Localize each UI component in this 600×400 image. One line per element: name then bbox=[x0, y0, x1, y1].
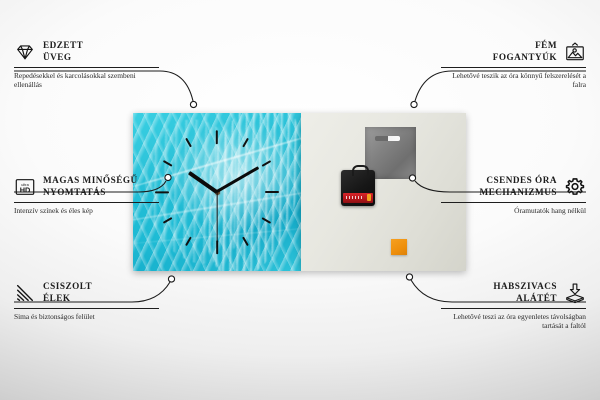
callout-title-line1: HABSZIVACS bbox=[493, 281, 557, 291]
callout-title-line2: ÜVEG bbox=[43, 52, 72, 62]
callout-tempered-glass: EDZETT ÜVEG Repedésekkel és karcolásokka… bbox=[14, 40, 159, 90]
callout-title: HABSZIVACS ALÁTÉT bbox=[493, 281, 557, 305]
callout-title-line1: MAGAS MINŐSÉGŰ bbox=[43, 175, 138, 185]
callout-title-line2: FOGANTYÚK bbox=[493, 52, 557, 62]
callout-title-line2: MECHANIZMUS bbox=[479, 187, 557, 197]
product-photo bbox=[133, 113, 466, 271]
callout-divider bbox=[441, 308, 586, 309]
callout-metal-handles: FÉM FOGANTYÚK Lehetővé teszik az óra kön… bbox=[441, 40, 586, 90]
callout-title-line1: FÉM bbox=[535, 40, 557, 50]
callout-header: HABSZIVACS ALÁTÉT bbox=[441, 281, 586, 305]
clock-tick bbox=[262, 217, 272, 224]
battery-label bbox=[346, 196, 364, 199]
callout-divider bbox=[441, 67, 586, 68]
callout-header: CSENDES ÓRA MECHANIZMUS bbox=[441, 175, 586, 199]
foam-pad-icon bbox=[564, 282, 586, 304]
callout-description: Lehetővé teszi az óra egyenletes távolsá… bbox=[441, 312, 586, 332]
callout-title: EDZETT ÜVEG bbox=[43, 40, 83, 64]
callout-title-line1: CSISZOLT bbox=[43, 281, 92, 291]
clock-tick bbox=[265, 191, 279, 193]
callout-title-line2: ÉLEK bbox=[43, 293, 71, 303]
svg-text:HD: HD bbox=[20, 185, 31, 194]
picture-hanger-icon bbox=[564, 41, 586, 63]
quiet-clock-mechanism bbox=[341, 170, 375, 206]
callout-description: Intenzív színek és éles kép bbox=[14, 206, 159, 216]
callout-description: Repedésekkel és karcolásokkal szembeni e… bbox=[14, 71, 159, 91]
callout-header: ultra HD MAGAS MINŐSÉGŰ NYOMTATÁS bbox=[14, 175, 159, 199]
clock-tick bbox=[242, 237, 249, 247]
callout-divider bbox=[441, 202, 586, 203]
battery bbox=[343, 193, 373, 203]
callout-title-line2: NYOMTATÁS bbox=[43, 187, 106, 197]
polished-edge-icon bbox=[14, 282, 36, 304]
callout-foam-pad: HABSZIVACS ALÁTÉT Lehetővé teszi az óra … bbox=[441, 281, 586, 331]
clock-hour-hand bbox=[188, 171, 218, 194]
callout-title: MAGAS MINŐSÉGŰ NYOMTATÁS bbox=[43, 175, 138, 199]
callout-description: Sima és biztonságos felület bbox=[14, 312, 159, 322]
hanger-slot bbox=[375, 136, 400, 141]
callout-high-quality-print: ultra HD MAGAS MINŐSÉGŰ NYOMTATÁS Intenz… bbox=[14, 175, 159, 215]
clock-tick bbox=[216, 130, 218, 144]
clock-second-hand bbox=[216, 192, 217, 248]
callout-title-line1: EDZETT bbox=[43, 40, 83, 50]
clock-tick bbox=[163, 160, 173, 167]
clock-tick bbox=[242, 138, 249, 148]
callout-divider bbox=[14, 308, 159, 309]
clock-tick bbox=[185, 138, 192, 148]
clock-minute-hand bbox=[216, 167, 259, 194]
callout-title-line2: ALÁTÉT bbox=[516, 293, 557, 303]
callout-title: CSISZOLT ÉLEK bbox=[43, 281, 92, 305]
callout-divider bbox=[14, 67, 159, 68]
clock-tick bbox=[185, 237, 192, 247]
callout-header: FÉM FOGANTYÚK bbox=[441, 40, 586, 64]
battery-terminal bbox=[367, 194, 371, 201]
foam-pad bbox=[391, 239, 407, 255]
callout-divider bbox=[14, 202, 159, 203]
mechanism-loop bbox=[352, 165, 369, 176]
callout-description: Óramutatók hang nélkül bbox=[441, 206, 586, 216]
infographic-stage: EDZETT ÜVEG Repedésekkel és karcolásokka… bbox=[0, 0, 600, 400]
callout-title-line1: CSENDES ÓRA bbox=[486, 175, 557, 185]
gear-icon bbox=[564, 176, 586, 198]
callout-header: CSISZOLT ÉLEK bbox=[14, 281, 159, 305]
callout-title: CSENDES ÓRA MECHANIZMUS bbox=[479, 175, 557, 199]
callout-header: EDZETT ÜVEG bbox=[14, 40, 159, 64]
callout-description: Lehetővé teszik az óra könnyű felszerelé… bbox=[441, 71, 586, 91]
clock-tick bbox=[163, 217, 173, 224]
callout-title: FÉM FOGANTYÚK bbox=[493, 40, 557, 64]
diamond-icon bbox=[14, 41, 36, 63]
clock-tick bbox=[262, 160, 272, 167]
ultra-hd-icon: ultra HD bbox=[14, 176, 36, 198]
callout-silent-mechanism: CSENDES ÓRA MECHANIZMUS Óramutatók hang … bbox=[441, 175, 586, 215]
callout-polished-edges: CSISZOLT ÉLEK Sima és biztonságos felüle… bbox=[14, 281, 159, 321]
